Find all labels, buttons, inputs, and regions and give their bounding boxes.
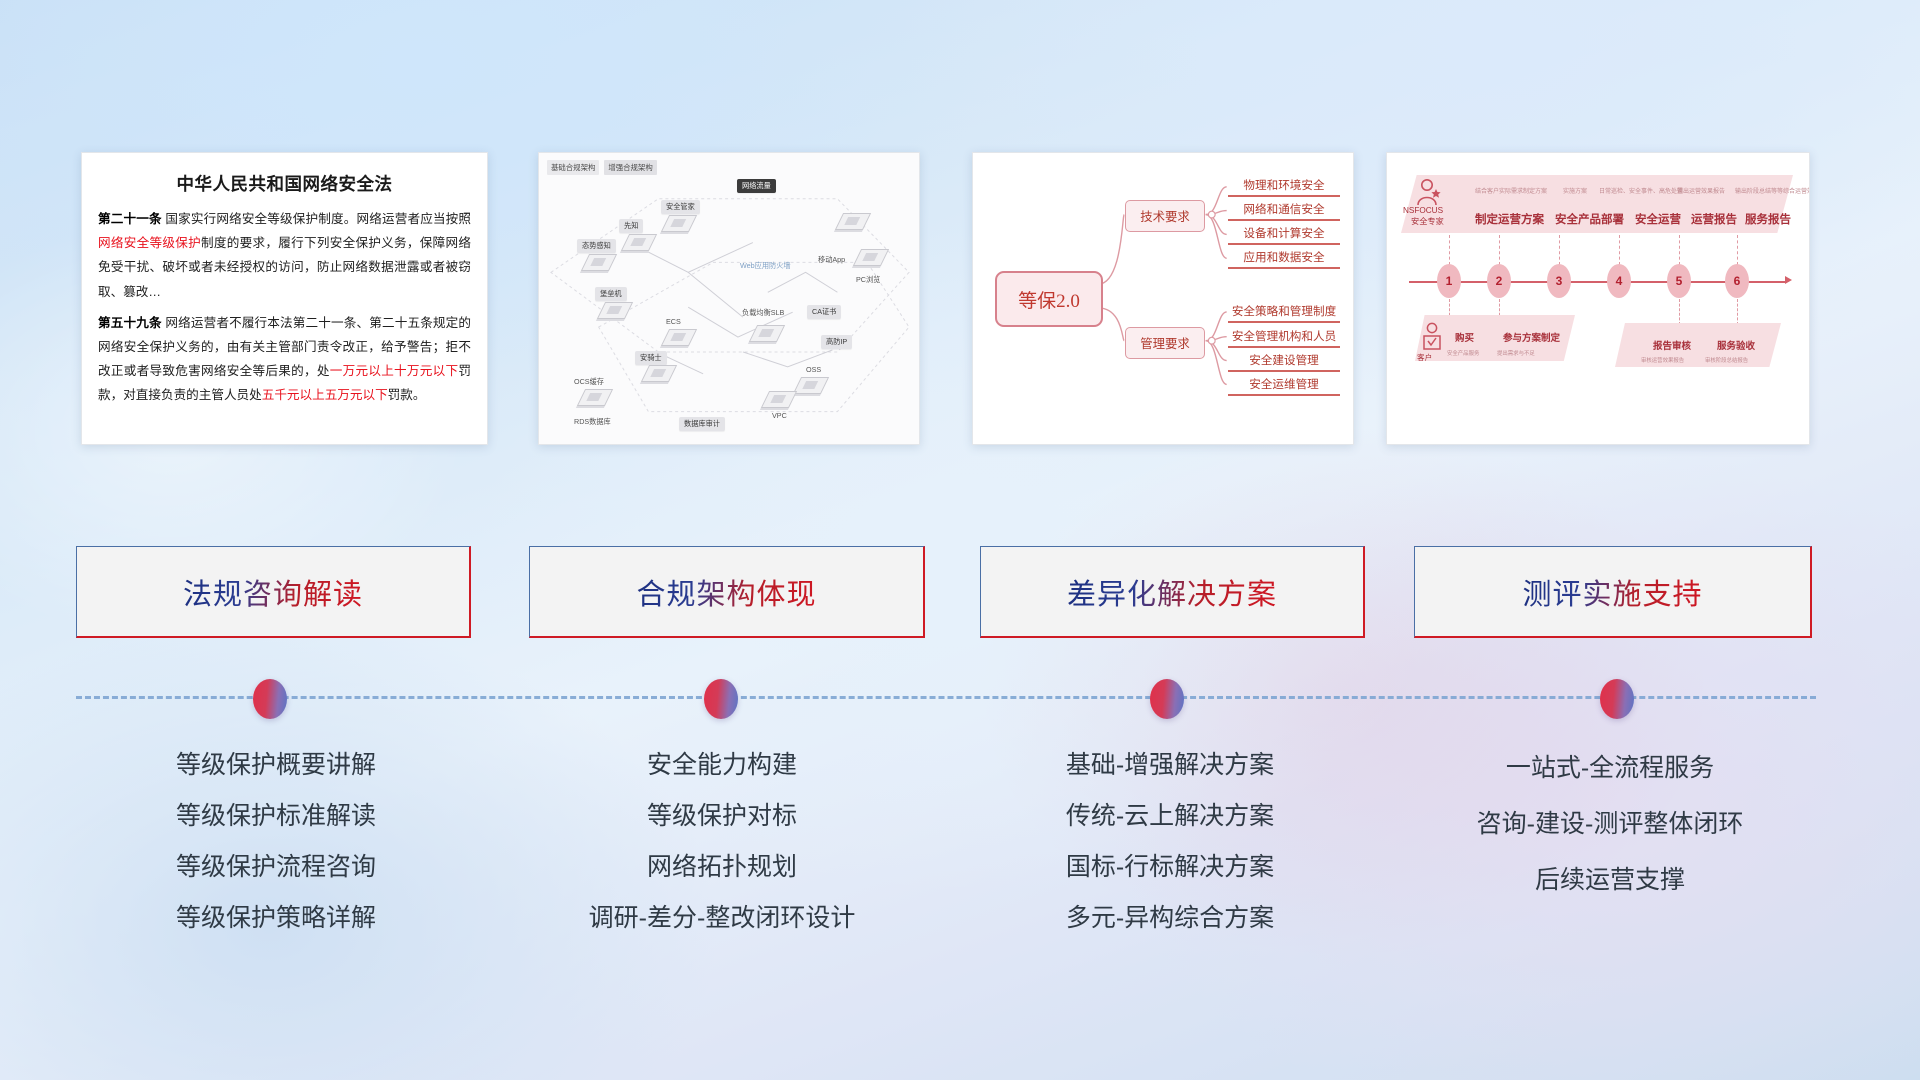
customer-action-2: 参与方案制定 (1503, 330, 1560, 344)
connector-dot-3[interactable] (1150, 679, 1184, 719)
customer-action-4: 服务验收 (1717, 338, 1755, 352)
customer-action-3: 报告审核 (1653, 338, 1691, 352)
connector-dot-2[interactable] (704, 679, 738, 719)
mindmap-leaf-tech-4: 应用和数据安全 (1228, 249, 1340, 269)
mindmap-root-node: 等保2.0 (995, 271, 1103, 327)
article-21-label: 第二十一条 (98, 212, 162, 226)
node-Web应用防火墙: Web应用防火墙 (735, 259, 796, 273)
article-59-highlight-2: 五千元以上五万元以下 (262, 388, 388, 402)
tab-basic-compliance[interactable]: 基础合规架构 (547, 160, 599, 175)
timeline-step-dot-5[interactable]: 5 (1667, 264, 1691, 298)
article-59-label: 第五十九条 (98, 316, 162, 330)
timeline-step-dot-2[interactable]: 2 (1487, 264, 1511, 298)
node-态势感知: 态势感知 (577, 239, 616, 253)
pill-label-1: 法规咨询解读 (183, 571, 363, 613)
step-5-title: 服务报告 (1745, 211, 1791, 227)
timeline-step-dot-3[interactable]: 3 (1547, 264, 1571, 298)
service-timeline: NSFOCUS 安全专家 结合客户实际需求制定方案 制定运营方案 实施方案 安全… (1387, 153, 1809, 444)
list-item: 等级保护标准解读 (76, 791, 476, 842)
timeline-step-dot-1[interactable]: 1 (1437, 264, 1461, 298)
list-item: 后续运营支撑 (1400, 852, 1820, 908)
timeline-tick-1 (1449, 235, 1451, 265)
step-4-sub: 输出运营效果报告 (1677, 186, 1725, 195)
step-5-sub: 输出阶段总结等等综合运营效果 (1735, 186, 1810, 195)
architecture-diagram: 基础合规架构 增强合规架构 (539, 153, 919, 444)
article-59-highlight-1: 一万元以上十万元以下 (330, 364, 459, 378)
step-3-title: 安全运营 (1635, 211, 1681, 227)
mindmap-branch-mgmt: 管理要求 (1125, 327, 1205, 359)
timeline-step-dot-6[interactable]: 6 (1725, 264, 1749, 298)
list-item: 多元-异构综合方案 (960, 893, 1380, 944)
node-先知: 先知 (619, 219, 643, 233)
step-2-title: 安全产品部署 (1555, 211, 1624, 227)
node-数据库审计: 数据库审计 (679, 417, 725, 431)
list-item: 等级保护流程咨询 (76, 842, 476, 893)
detail-column-1: 等级保护概要讲解 等级保护标准解读 等级保护流程咨询 等级保护策略详解 (76, 740, 476, 944)
pill-button-differentiated-solution[interactable]: 差异化解决方案 (980, 546, 1365, 638)
timeline-connector-row (0, 679, 1920, 725)
pill-button-compliance-architecture[interactable]: 合规架构体现 (529, 546, 925, 638)
pill-button-regulation-consulting[interactable]: 法规咨询解读 (76, 546, 471, 638)
architecture-tabs: 基础合规架构 增强合规架构 (547, 160, 657, 175)
step-2-sub: 实施方案 (1563, 186, 1587, 195)
detail-list-1: 等级保护概要讲解 等级保护标准解读 等级保护流程咨询 等级保护策略详解 (76, 740, 476, 944)
detail-list-2: 安全能力构建 等级保护对标 网络拓扑规划 调研-差分-整改闭环设计 (522, 740, 922, 944)
pill-label-2: 合规架构体现 (636, 571, 816, 613)
expert-label-line2: 安全专家 (1411, 217, 1444, 227)
step-1-sub: 结合客户实际需求制定方案 (1475, 186, 1547, 195)
customer-band-right (1615, 323, 1781, 367)
node-VPC: VPC (767, 409, 792, 422)
mindmap-leaf-mgmt-2: 安全管理机构和人员 (1228, 328, 1340, 348)
customer-person-icon (1421, 321, 1445, 351)
mindmap-leaf-mgmt-3: 安全建设管理 (1228, 352, 1340, 372)
node-安骑士: 安骑士 (635, 351, 667, 365)
mindmap-leaf-mgmt-4: 安全运维管理 (1228, 376, 1340, 396)
tab-enhanced-compliance[interactable]: 增强合规架构 (604, 160, 656, 175)
article-21-highlight: 网络安全等级保护 (98, 236, 201, 250)
dashed-connector-line (76, 696, 1816, 699)
node-OCS缓存: OCS缓存 (569, 375, 609, 389)
mindmap-leaf-tech-3: 设备和计算安全 (1228, 225, 1340, 245)
customer-action-1-sub: 安全产品服务 (1447, 349, 1479, 357)
node-ECS: ECS (661, 315, 686, 328)
mindmap-leaf-tech-1: 物理和环境安全 (1228, 177, 1340, 197)
timeline-tick-6 (1737, 235, 1739, 265)
customer-action-2-sub: 提出需求与不足 (1497, 349, 1535, 357)
node-OSS: OSS (801, 363, 826, 376)
step-1-title: 制定运营方案 (1475, 211, 1544, 227)
timeline-step-dot-4[interactable]: 4 (1607, 264, 1631, 298)
law-card-title: 中华人民共和国网络安全法 (98, 171, 471, 196)
customer-action-3-sub: 审核运营效果报告 (1641, 356, 1684, 364)
node-PC浏览: PC浏览 (851, 273, 885, 287)
pill-button-assessment-support[interactable]: 测评实施支持 (1414, 546, 1812, 638)
list-item: 咨询-建设-测评整体闭环 (1400, 796, 1820, 852)
mindmap-card: 等保2.0 技术要求 物理和环境安全 网络和通信安全 设备和计算安全 应用和数据… (972, 152, 1354, 445)
article-59-text-3: 罚款。 (388, 388, 426, 402)
article-21-text-1: 国家实行网络安全等级保护制度。网络运营者应当按照 (162, 212, 471, 226)
detail-list-3: 基础-增强解决方案 传统-云上解决方案 国标-行标解决方案 多元-异构综合方案 (960, 740, 1380, 944)
page-root: 中华人民共和国网络安全法 第二十一条 国家实行网络安全等级保护制度。网络运营者应… (0, 0, 1920, 1080)
law-article-59: 第五十九条 网络运营者不履行本法第二十一条、第二十五条规定的网络安全保护义务的，… (98, 311, 471, 408)
connector-dot-1[interactable] (253, 679, 287, 719)
law-text-card: 中华人民共和国网络安全法 第二十一条 国家实行网络安全等级保护制度。网络运营者应… (81, 152, 488, 445)
step-4-title: 运营报告 (1691, 211, 1737, 227)
node-负载均衡SLB: 负载均衡SLB (737, 306, 789, 320)
detail-columns: 等级保护概要讲解 等级保护标准解读 等级保护流程咨询 等级保护策略详解 安全能力… (0, 740, 1920, 990)
media-card-row: 中华人民共和国网络安全法 第二十一条 国家实行网络安全等级保护制度。网络运营者应… (0, 152, 1920, 445)
mindmap: 等保2.0 技术要求 物理和环境安全 网络和通信安全 设备和计算安全 应用和数据… (973, 153, 1353, 444)
category-pill-row: 法规咨询解读 合规架构体现 差异化解决方案 测评实施支持 (0, 546, 1920, 642)
timeline-tick-b3 (1679, 299, 1681, 325)
node-RDS数据库: RDS数据库 (569, 415, 616, 429)
list-item: 一站式-全流程服务 (1400, 740, 1820, 796)
list-item: 安全能力构建 (522, 740, 922, 791)
expert-label-line1: NSFOCUS (1403, 206, 1443, 216)
customer-action-4-sub: 审核阶段总结报告 (1705, 356, 1748, 364)
customer-label: 客户 (1417, 353, 1432, 362)
mindmap-branch-tech: 技术要求 (1125, 200, 1205, 232)
node-网络流量: 网络流量 (737, 179, 776, 193)
timeline-tick-3 (1559, 235, 1561, 265)
customer-action-1: 购买 (1455, 330, 1474, 344)
list-item: 等级保护对标 (522, 791, 922, 842)
detail-column-3: 基础-增强解决方案 传统-云上解决方案 国标-行标解决方案 多元-异构综合方案 (960, 740, 1380, 944)
timeline-tick-5 (1679, 235, 1681, 265)
list-item: 基础-增强解决方案 (960, 740, 1380, 791)
law-article-21: 第二十一条 国家实行网络安全等级保护制度。网络运营者应当按照网络安全等级保护制度… (98, 207, 471, 304)
node-安全管家: 安全管家 (661, 200, 700, 214)
list-item: 国标-行标解决方案 (960, 842, 1380, 893)
node-高防IP: 高防IP (821, 335, 852, 349)
pill-label-3: 差异化解决方案 (1067, 571, 1277, 613)
node-CA证书: CA证书 (807, 305, 841, 319)
step-3-sub: 日常巡检、安全事件、高危处置 (1599, 186, 1683, 195)
node-移动App: 移动App (813, 253, 850, 267)
cloud-architecture-card: 基础合规架构 增强合规架构 (538, 152, 920, 445)
connector-dot-4[interactable] (1600, 679, 1634, 719)
timeline-tick-2 (1499, 235, 1501, 265)
detail-list-4: 一站式-全流程服务 咨询-建设-测评整体闭环 后续运营支撑 (1400, 740, 1820, 908)
timeline-tick-b4 (1737, 299, 1739, 325)
pill-label-4: 测评实施支持 (1522, 571, 1702, 613)
detail-column-4: 一站式-全流程服务 咨询-建设-测评整体闭环 后续运营支撑 (1400, 740, 1820, 908)
list-item: 传统-云上解决方案 (960, 791, 1380, 842)
list-item: 等级保护策略详解 (76, 893, 476, 944)
service-timeline-card: NSFOCUS 安全专家 结合客户实际需求制定方案 制定运营方案 实施方案 安全… (1386, 152, 1810, 445)
timeline-tick-4 (1619, 235, 1621, 265)
list-item: 调研-差分-整改闭环设计 (522, 893, 922, 944)
timeline-arrow-icon (1785, 276, 1792, 284)
mindmap-leaf-tech-2: 网络和通信安全 (1228, 201, 1340, 221)
expert-person-icon (1413, 177, 1443, 209)
list-item: 网络拓扑规划 (522, 842, 922, 893)
detail-column-2: 安全能力构建 等级保护对标 网络拓扑规划 调研-差分-整改闭环设计 (522, 740, 922, 944)
mindmap-leaf-mgmt-1: 安全策略和管理制度 (1228, 303, 1340, 323)
list-item: 等级保护概要讲解 (76, 740, 476, 791)
node-堡垒机: 堡垒机 (595, 287, 627, 301)
